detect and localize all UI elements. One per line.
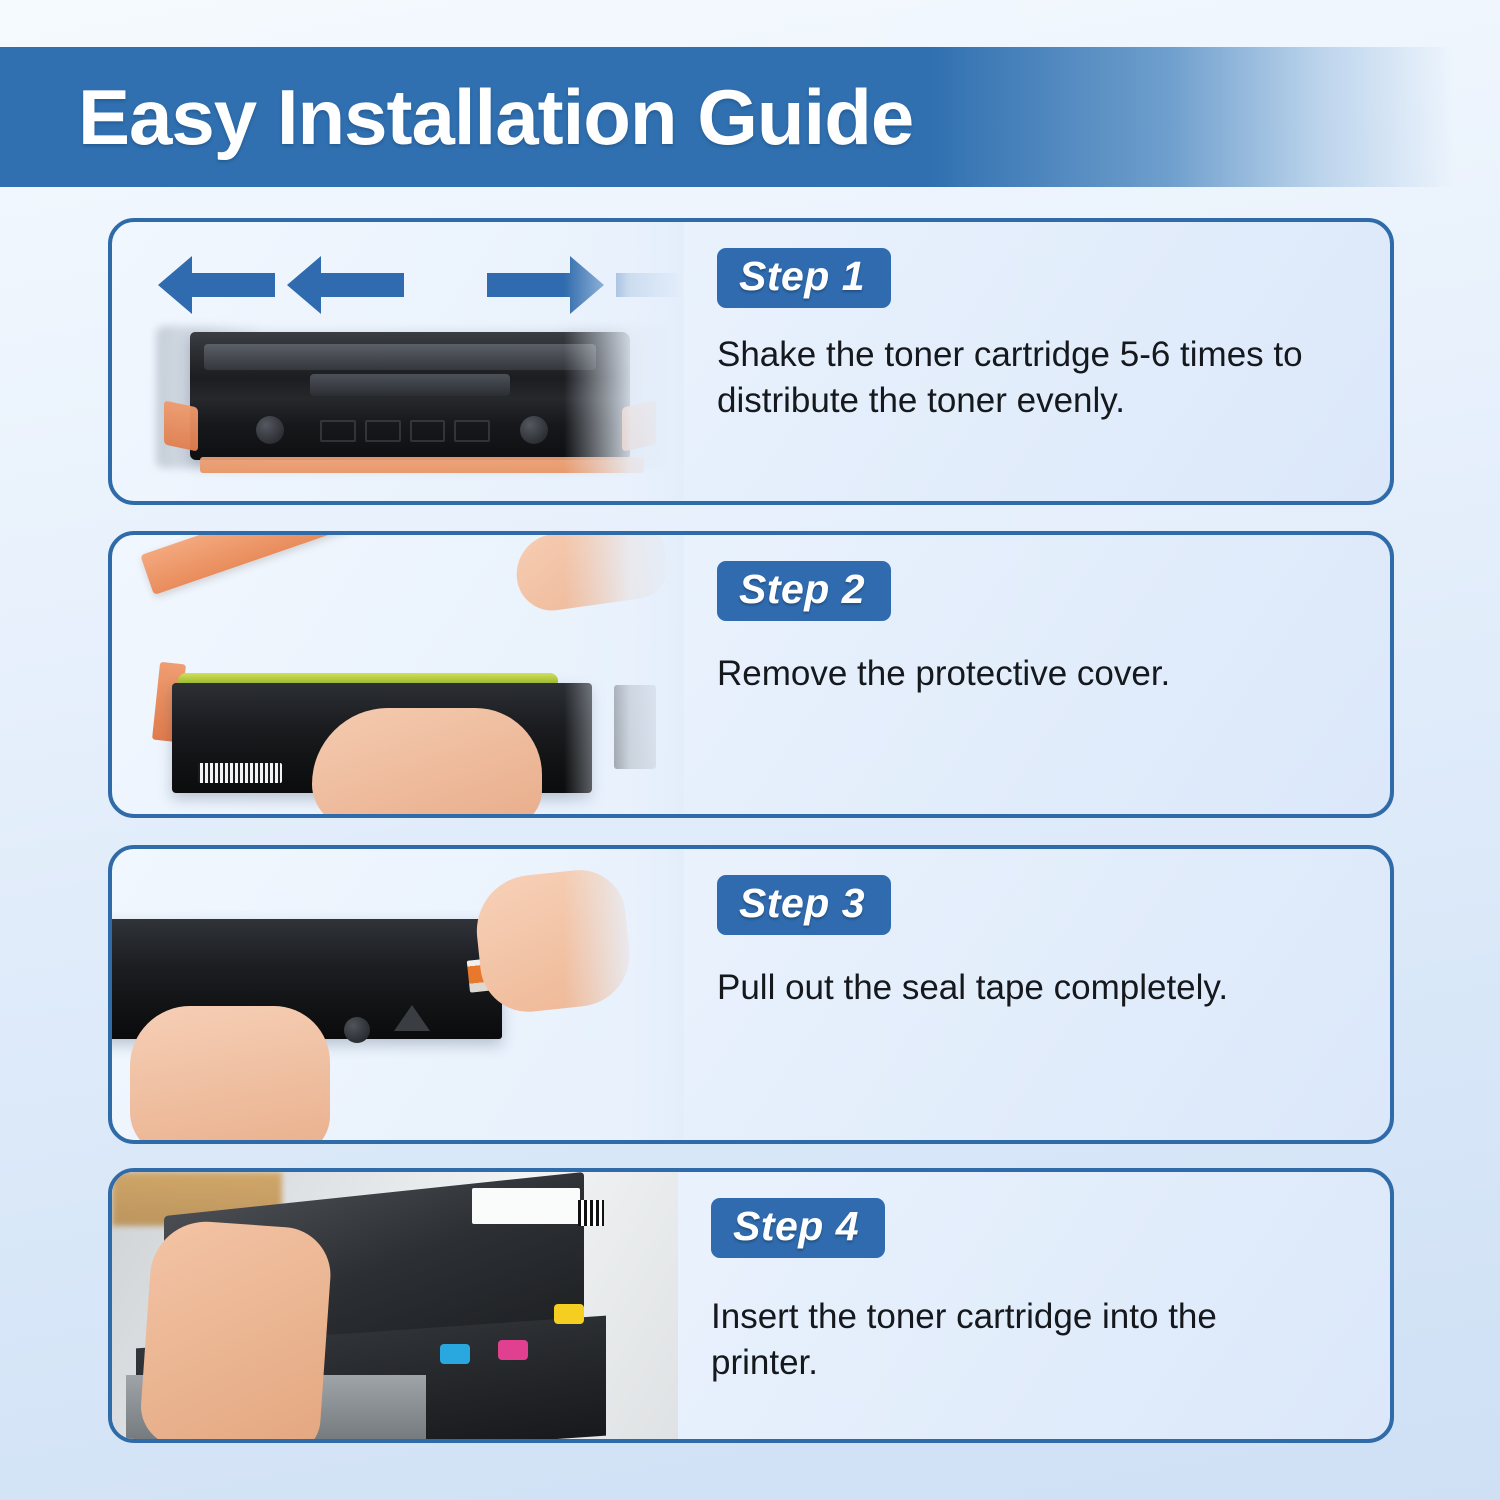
arrow-left-icon	[158, 256, 275, 314]
step-card-3: Step 3 Pull out the seal tape completely…	[108, 845, 1394, 1144]
arrow-left-icon	[287, 256, 404, 314]
yellow-cartridge-handle	[554, 1304, 584, 1324]
page-title: Easy Installation Guide	[78, 78, 913, 156]
hand-holding-cartridge	[130, 1006, 330, 1140]
cartridge-warning-icons	[320, 420, 490, 442]
cartridge-ridge	[310, 374, 510, 396]
hand-inserting-cartridge	[138, 1218, 333, 1439]
header-banner: Easy Installation Guide	[0, 47, 1500, 187]
cartridge-orange-tab-left	[164, 400, 198, 451]
image-fade-edge	[564, 222, 684, 501]
image-fade-edge	[564, 849, 684, 1140]
step-2-badge: Step 2	[717, 561, 891, 621]
step-4-image	[112, 1172, 678, 1439]
step-3-badge: Step 3	[717, 875, 891, 935]
cartridge-knob-left	[256, 416, 284, 444]
step-card-4: Step 4 Insert the toner cartridge into t…	[108, 1168, 1394, 1443]
cartridge-knob	[344, 1017, 370, 1043]
step-1-badge: Step 1	[717, 248, 891, 308]
printer-graphic	[112, 1172, 678, 1439]
step-card-1: Step 1 Shake the toner cartridge 5-6 tim…	[108, 218, 1394, 505]
step-1-description: Shake the toner cartridge 5-6 times to d…	[717, 332, 1337, 424]
cyan-cartridge-handle	[440, 1344, 470, 1364]
step-3-image	[112, 849, 684, 1140]
step-1-image	[112, 222, 684, 501]
step-3-description: Pull out the seal tape completely.	[717, 965, 1337, 1011]
arrow-up-icon	[394, 1005, 430, 1031]
qr-code-icon	[578, 1200, 604, 1226]
barcode-label	[198, 763, 282, 783]
step-card-2: Step 2 Remove the protective cover.	[108, 531, 1394, 818]
printer-label	[472, 1188, 580, 1224]
step-4-badge: Step 4	[711, 1198, 885, 1258]
step-2-image	[112, 535, 684, 814]
magenta-cartridge-handle	[498, 1340, 528, 1360]
step-2-description: Remove the protective cover.	[717, 651, 1337, 697]
cartridge-knob-right	[520, 416, 548, 444]
step-4-description: Insert the toner cartridge into the prin…	[711, 1294, 1331, 1386]
hand-lower	[312, 708, 542, 814]
image-fade-edge	[564, 535, 684, 814]
protective-cover-graphic	[140, 535, 560, 595]
